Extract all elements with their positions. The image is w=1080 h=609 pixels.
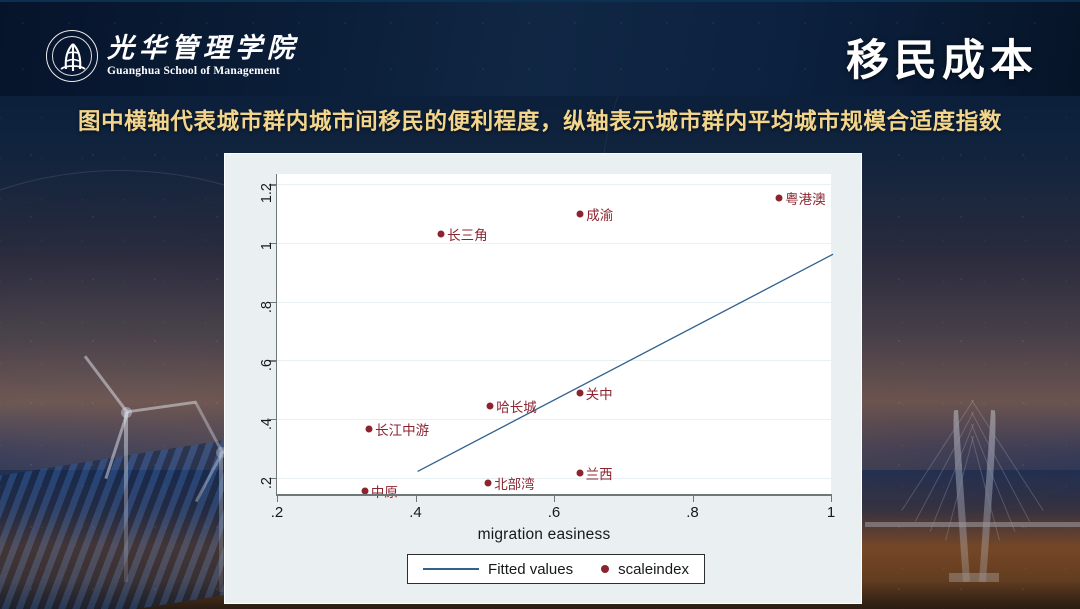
x-axis-tick [416,495,417,502]
x-axis-tick-label: 1 [827,504,835,521]
slide: 光华管理学院 Guanghua School of Management 移民成… [0,0,1080,609]
x-axis-tick [277,495,278,502]
peking-university-seal-icon [46,30,98,82]
wind-turbine-icon [96,412,156,582]
gridline [277,243,831,244]
legend-label-fitted-values: Fitted values [488,561,573,578]
slide-title: 移民成本 [846,26,1038,88]
legend-line-swatch [423,568,479,570]
y-axis-tick-label: .6 [259,359,275,401]
bridge-illustration [905,392,1075,582]
scatter-point-label: 长三角 [447,224,488,244]
scatter-point-label: 长江中游 [375,419,429,439]
gridline [277,360,831,361]
legend-item-scaleindex: scaleindex [601,561,689,578]
y-axis-tick-label: .4 [259,418,275,460]
chart-legend: Fitted values scaleindex [407,554,705,584]
scatter-point-label: 中原 [371,481,398,501]
y-axis-line [276,174,277,494]
scatter-point [577,210,584,217]
scatter-point-label: 北部湾 [494,473,535,493]
legend-label-scaleindex: scaleindex [618,561,689,578]
plot-area: 粤港澳成渝长三角关中哈长城长江中游兰西北部湾中原 [277,174,831,494]
x-axis-tick-label: .8 [686,504,699,521]
scatter-point-label: 关中 [586,383,613,403]
scatter-point [576,389,583,396]
scatter-point [487,402,494,409]
x-axis-tick [831,495,832,502]
scatter-point-label: 兰西 [586,463,613,483]
brand-logo: 光华管理学院 Guanghua School of Management [46,30,299,82]
gridline [277,478,831,479]
y-axis-tick-label: 1.2 [259,183,275,225]
scatter-point [361,487,368,494]
x-axis-tick [693,495,694,502]
gridline [277,184,831,185]
gridline [277,302,831,303]
scatter-point [366,425,373,432]
logo-english-name: Guanghua School of Management [107,66,299,78]
slide-subtitle: 图中横轴代表城市群内城市间移民的便利程度，纵轴表示城市群内平均城市规模合适度指数 [0,104,1080,136]
x-axis-tick [554,495,555,502]
scatter-point-label: 成渝 [586,204,613,224]
scatter-point [576,469,583,476]
x-axis-tick-label: .4 [409,504,422,521]
x-axis-title: migration easiness [225,526,863,544]
y-axis-tick-label: 1 [259,242,275,284]
scatter-point [438,230,445,237]
scatter-point [776,194,783,201]
y-axis-tick-label: .8 [259,301,275,343]
x-axis-tick-label: .2 [271,504,284,521]
chart-panel: 粤港澳成渝长三角关中哈长城长江中游兰西北部湾中原 .2.4.6.811.2 .2… [224,153,862,604]
scatter-point [485,480,492,487]
gridline [277,419,831,420]
x-axis-tick-label: .6 [548,504,561,521]
top-hairline [0,0,1080,2]
scatter-point-label: 粤港澳 [785,188,826,208]
scatter-point-label: 哈长城 [496,396,537,416]
legend-dot-swatch [601,565,609,573]
logo-chinese-name: 光华管理学院 [107,35,299,62]
legend-item-fitted-values: Fitted values [423,561,573,578]
